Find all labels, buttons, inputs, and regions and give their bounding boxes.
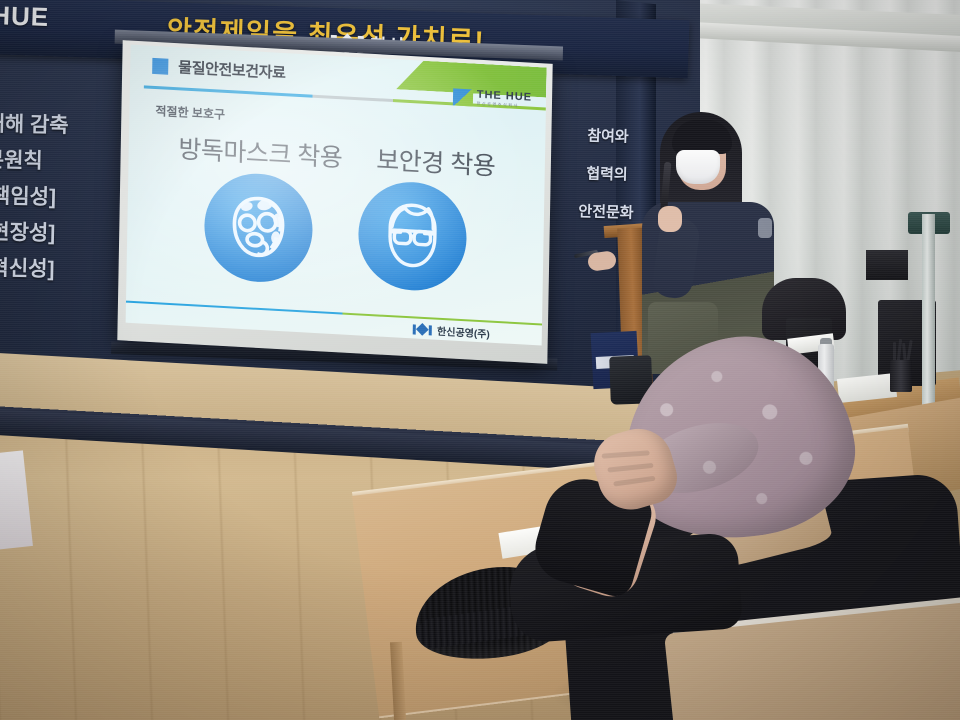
seated-attendee (490, 330, 960, 720)
footer-logo-diamond-icon (416, 323, 429, 336)
screen-frame: 물질안전보건자료 THE HUE 한신공영주식회사 적절한 보호구 방독마스크 … (117, 40, 552, 364)
the-hue-logo-textblock: THE HUE 한신공영주식회사 (477, 90, 533, 110)
presenter-hand (658, 206, 682, 232)
gas-mask-mandatory-icon (203, 171, 313, 285)
projection-screen: 물질안전보건자료 THE HUE 한신공영주식회사 적절한 보호구 방독마스크 … (117, 40, 552, 364)
wall-left-line-3: [현장성] (0, 215, 124, 254)
presentation-slide: 물질안전보건자료 THE HUE 한신공영주식회사 적절한 보호구 방독마스크 … (126, 45, 547, 346)
footer-logo-bar-right-icon (429, 325, 432, 335)
presenter-face-mask (676, 150, 720, 184)
hanshin-footer-logo: 한신공영(주) (413, 321, 490, 340)
safety-goggles-mandatory-icon (357, 179, 467, 293)
presenter-hair-front (672, 120, 732, 154)
dark-equipment-box (866, 250, 908, 280)
blue-square-bullet-icon (152, 58, 168, 75)
slide-subtitle: 적절한 보호구 (155, 102, 225, 123)
slide-item-label-0: 방독마스크 착용 (178, 129, 343, 174)
wall-left-line-0: 재해 감축 (0, 107, 126, 146)
the-hue-mark-icon (453, 88, 473, 106)
meeting-room-photo: HUE 안전제일을 최우선 가치로! 한신 재해 감축 본원칙 [책임성] [현… (0, 0, 960, 720)
wall-left-line-1: 본원칙 (0, 143, 125, 182)
footer-logo-text: 한신공영(주) (437, 323, 490, 341)
wall-left-principles-text: 재해 감축 본원칙 [책임성] [현장성] [혁신성] (0, 107, 126, 290)
wall-left-line-4: [혁신성] (0, 251, 123, 290)
the-hue-logo: THE HUE 한신공영주식회사 (453, 88, 533, 109)
slide-mandatory-icons (126, 167, 544, 298)
slide-title: 물질안전보건자료 (178, 56, 286, 83)
wall-left-line-2: [책임성] (0, 179, 124, 218)
presenter-sleeve-patch (758, 218, 772, 238)
footer-rule (126, 301, 542, 326)
slide-item-label-1: 보안경 착용 (376, 140, 496, 183)
slide-footer: 한신공영(주) (126, 301, 542, 346)
banner-left-logo-text: HUE (0, 0, 50, 33)
